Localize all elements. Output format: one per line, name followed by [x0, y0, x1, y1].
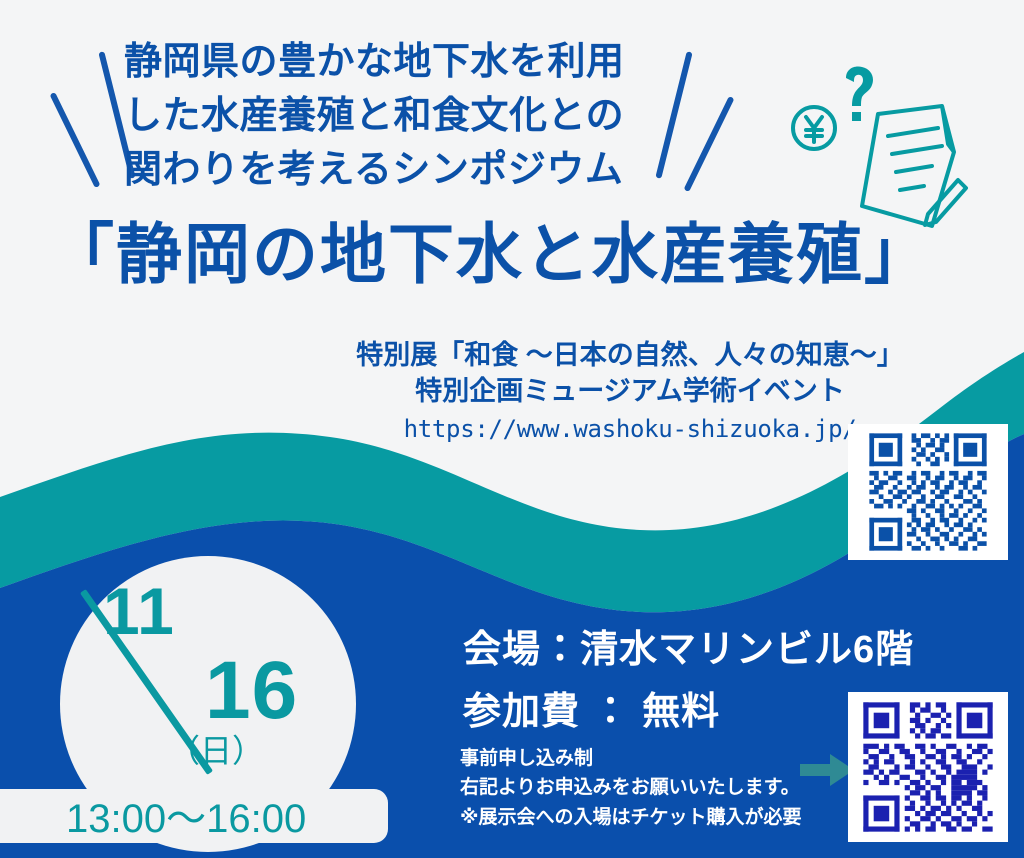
exhibition-title: 特別展「和食 〜日本の自然、人々の知恵〜」	[300, 338, 960, 374]
event-poster: 静岡県の豊かな地下水を利用 した水産養殖と和食文化との 関わりを考えるシンポジウ…	[0, 0, 1024, 858]
headline-line-2: した水産養殖と和食文化との	[124, 90, 664, 144]
event-month: 11	[103, 578, 175, 644]
document-pencil-icon	[862, 106, 966, 226]
headline-line-3: 関わりを考えるシンポジウム	[124, 144, 664, 198]
headline-line-1: 静岡県の豊かな地下水を利用	[124, 36, 664, 90]
event-time: 13:00〜16:00	[66, 797, 306, 841]
event-day-of-week: （日）	[168, 735, 264, 767]
note-line-2: 右記よりお申込みをお願いいたします。	[460, 773, 801, 802]
qr-code-website-panel[interactable]	[848, 424, 1008, 560]
decorative-slash-right-outer	[684, 96, 735, 192]
qr-code-application-panel[interactable]	[848, 692, 1008, 842]
decorative-slash-left-outer	[50, 92, 101, 188]
qr-code-application-icon[interactable]	[848, 692, 1008, 842]
fee-label: 参加費 ： 無料	[463, 692, 720, 734]
registration-notes: 事前申し込み制 右記よりお申込みをお願いいたします。 ※展示会への入場はチケット…	[460, 744, 801, 832]
venue-label: 会場：清水マリンビル6階	[463, 630, 914, 672]
note-line-1: 事前申し込み制	[460, 744, 801, 773]
note-line-3: ※展示会への入場はチケット購入が必要	[460, 803, 801, 832]
question-mark-icon	[846, 66, 873, 121]
event-type-label: 特別企画ミュージアム学術イベント	[300, 374, 960, 410]
event-day: 16	[205, 650, 298, 732]
headline-block: 静岡県の豊かな地下水を利用 した水産養殖と和食文化との 関わりを考えるシンポジウ…	[124, 36, 664, 198]
qr-code-website-icon[interactable]	[848, 424, 1008, 560]
yen-coin-icon	[793, 107, 835, 149]
decorative-icon-cluster	[782, 66, 982, 246]
